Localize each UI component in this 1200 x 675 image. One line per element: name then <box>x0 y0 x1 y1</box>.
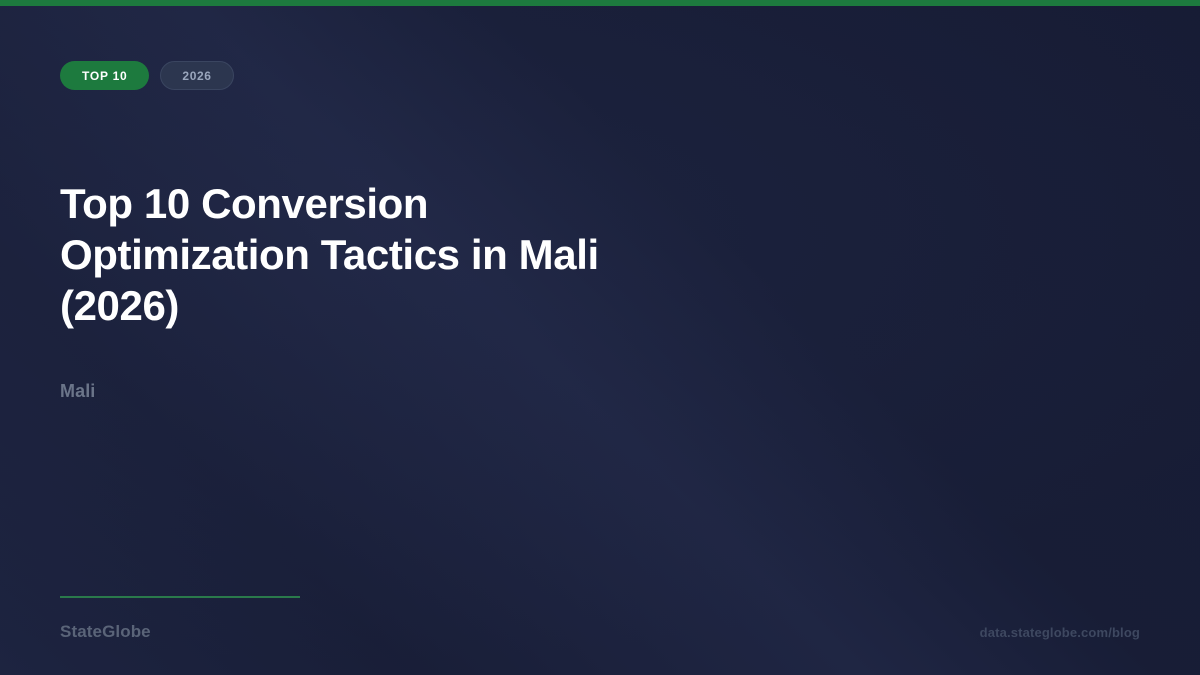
slide-frame: TOP 10 2026 Top 10 Conversion Optimizati… <box>0 0 1200 675</box>
footer-divider <box>60 596 300 598</box>
year-badge[interactable]: 2026 <box>160 61 233 90</box>
badge-row: TOP 10 2026 <box>60 61 234 90</box>
footer-brand: StateGlobe <box>60 622 151 642</box>
footer-url: data.stateglobe.com/blog <box>980 625 1140 640</box>
rank-badge[interactable]: TOP 10 <box>60 61 149 90</box>
page-title: Top 10 Conversion Optimization Tactics i… <box>60 178 680 331</box>
top-accent-bar <box>0 0 1200 6</box>
page-subtitle: Mali <box>60 381 95 402</box>
